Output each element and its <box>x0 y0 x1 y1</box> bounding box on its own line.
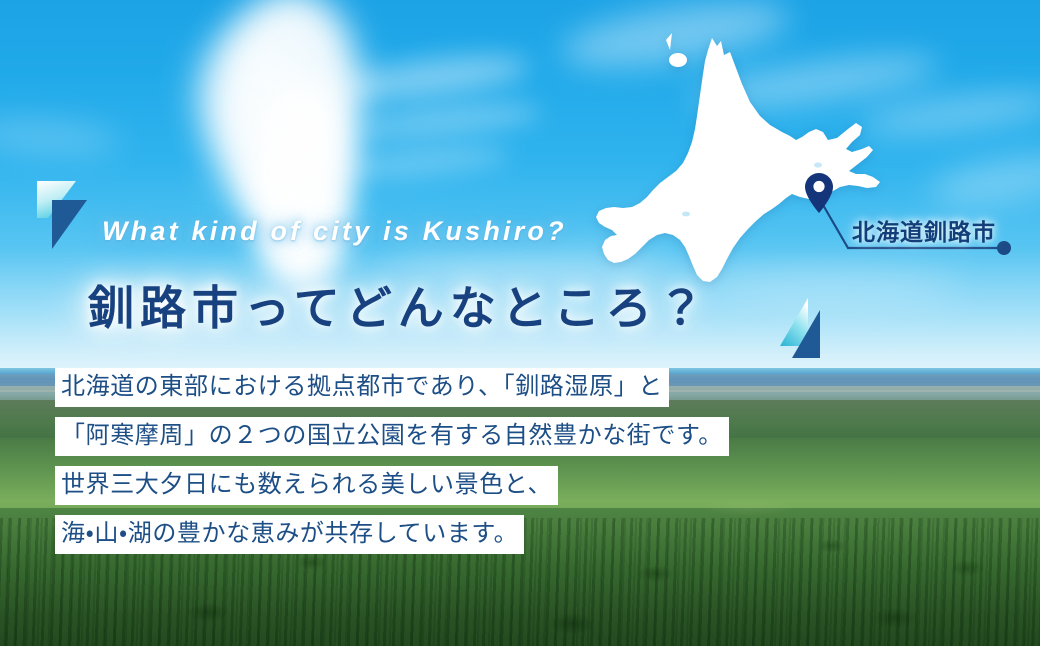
hero-headline: 釧路市ってどんなところ？ <box>88 272 710 338</box>
map-pin-icon[interactable] <box>804 172 834 214</box>
hero-body-copy: 北海道の東部における拠点都市であり、「釧路湿原」と 「阿寒摩周」の２つの国立公園… <box>55 368 729 564</box>
body-line: 世界三大夕日にも数えられる美しい景色と、 <box>55 466 558 505</box>
body-line: 「阿寒摩周」の２つの国立公園を有する自然豊かな街です。 <box>55 417 729 456</box>
cloud-plume <box>196 30 316 150</box>
body-line: 北海道の東部における拠点都市であり、「釧路湿原」と <box>55 368 669 407</box>
map-pin-label: 北海道釧路市 <box>852 213 996 247</box>
hokkaido-island-icon <box>590 28 910 303</box>
body-line: 海・山・湖の豊かな恵みが共存しています。 <box>55 515 524 554</box>
hero-banner: 北海道釧路市 What kind of city is Kushiro? 釧路市… <box>0 0 1040 646</box>
hokkaido-map <box>590 28 910 303</box>
brand-triangle-mark-right-icon <box>778 296 836 362</box>
hero-eyebrow: What kind of city is Kushiro? <box>102 216 567 247</box>
brand-triangle-mark-left-icon <box>34 178 90 252</box>
